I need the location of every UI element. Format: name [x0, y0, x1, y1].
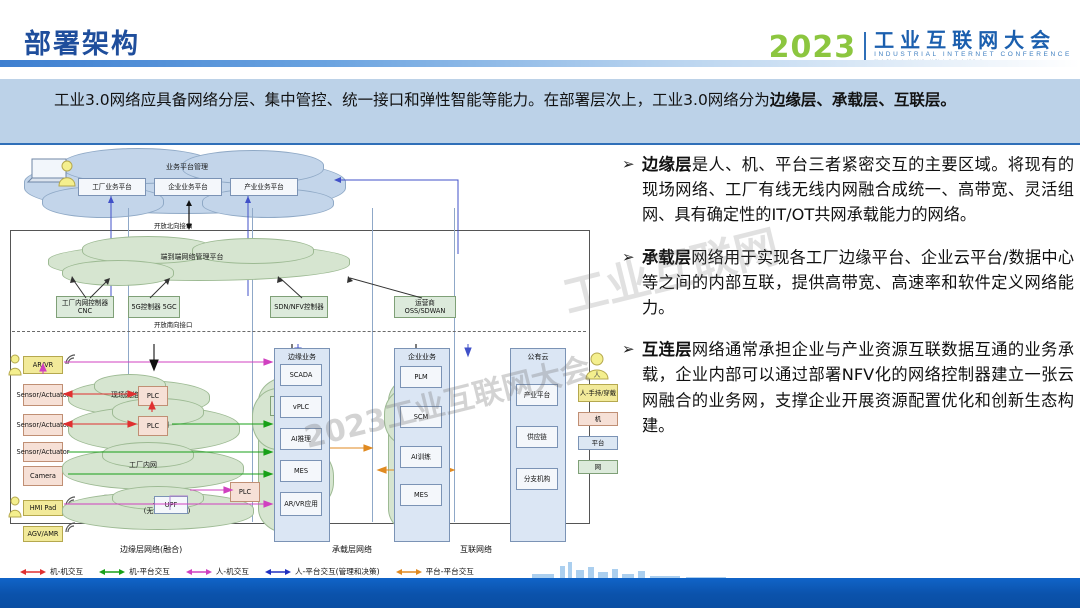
legend-machine-machine: 机-机交互	[20, 566, 83, 577]
slide: 部署架构 2023 工业互联网大会 INDUSTRIAL INTERNET CO…	[0, 0, 1080, 608]
bearing-layer-network-label: 承载层网络	[332, 544, 372, 555]
bullet-marker-icon: ➢	[622, 152, 642, 228]
intro-band: 工业3.0网络应具备网络分层、集中管控、统一接口和弹性智能等能力。在部署层次上，…	[0, 79, 1080, 145]
intro-text-a: 工业3.0网络应具备网络分层、集中管控、统一接口和弹性智能等能力。在部署层次上，…	[54, 91, 770, 109]
south-interface-line	[12, 331, 586, 332]
double-arrow-icon	[186, 568, 212, 576]
legend-human-machine: 人-机交互	[186, 566, 249, 577]
double-arrow-icon	[396, 568, 422, 576]
bullet-list: ➢ 边缘层是人、机、平台三者紧密交互的主要区域。将现有的现场网络、工厂有线无线内…	[622, 152, 1074, 455]
legend-platform-platform: 平台-平台交互	[396, 566, 474, 577]
industry-platform-box[interactable]: 产业平台	[516, 384, 558, 406]
scada-box[interactable]: SCADA	[280, 364, 322, 386]
legend-machine-platform: 机-平台交互	[99, 566, 170, 577]
public-cloud-column-title: 公有云	[511, 352, 565, 362]
intro-paragraph: 工业3.0网络应具备网络分层、集中管控、统一接口和弹性智能等能力。在部署层次上，…	[22, 86, 1058, 115]
arvr-app-box[interactable]: AR/VR应用	[280, 492, 322, 516]
person-icon: 人	[584, 352, 610, 380]
north-interface-arrow	[184, 200, 194, 230]
bullet-body-1: 网络用于实现各工厂边缘平台、企业云平台/数据中心等之间的内部互联，提供高带宽、高…	[642, 248, 1074, 317]
header-rule	[0, 60, 1080, 67]
edge-service-column-title: 边缘业务	[275, 352, 329, 362]
bullet-lead-1: 承载层	[642, 248, 691, 267]
legend-human-wearable: 人-手持/穿戴	[578, 384, 618, 402]
supply-chain-box[interactable]: 供应链	[516, 426, 558, 448]
architecture-diagram: 业务平台管理 工厂业务平台 企业业务平台 产业业务平台 开放北向接口	[2, 148, 616, 560]
bullet-marker-icon: ➢	[622, 337, 642, 438]
double-arrow-icon	[20, 568, 46, 576]
bullet-interconnect-layer: ➢ 互连层网络通常承担企业与产业资源互联数据互通的业务承载，企业内部可以通过部署…	[622, 337, 1074, 438]
legend-label: 人-平台交互(管理和决策)	[295, 566, 380, 577]
branch-office-box[interactable]: 分支机构	[516, 468, 558, 490]
scm-box[interactable]: SCM	[400, 406, 442, 428]
interconnect-network-label: 互联网络	[460, 544, 492, 555]
vplc-box[interactable]: vPLC	[280, 396, 322, 418]
legend-human-platform: 人-平台交互(管理和决策)	[265, 566, 380, 577]
intro-bold-b: 承载层、互联层。	[832, 91, 956, 109]
logo-title-cn: 工业互联网大会	[874, 30, 1072, 51]
person-icon	[58, 160, 76, 188]
legend-label: 机-平台交互	[129, 566, 170, 577]
legend-label: 机-机交互	[50, 566, 83, 577]
bullet-marker-icon: ➢	[622, 245, 642, 321]
legend-network: 网	[578, 460, 618, 474]
industry-business-platform-box[interactable]: 产业业务平台	[230, 178, 298, 196]
legend-label: 平台-平台交互	[426, 566, 474, 577]
bullet-lead-2: 互连层	[642, 340, 692, 359]
mes-edge-box[interactable]: MES	[280, 460, 322, 482]
bullet-body-0: 是人、机、平台三者紧密交互的主要区域。将现有的现场网络、工厂有线无线内网融合成统…	[642, 155, 1074, 224]
slide-header: 部署架构 2023 工业互联网大会 INDUSTRIAL INTERNET CO…	[0, 0, 1080, 72]
e2e-cloud-label: 端到端网络管理平台	[122, 252, 262, 262]
bullet-lead-0: 边缘层	[642, 155, 692, 174]
legend-machine: 机	[578, 412, 618, 426]
enterprise-service-column-title: 企业业务	[395, 352, 449, 362]
legend-platform: 平台	[578, 436, 618, 450]
intro-bold-a: 边缘层、	[770, 91, 832, 109]
edge-layer-network-label: 边缘层网络(融合)	[120, 544, 182, 555]
legend-label: 人-机交互	[216, 566, 249, 577]
south-interface-label: 开放南向接口	[154, 320, 192, 329]
svg-text:人: 人	[594, 371, 601, 379]
ai-training-box[interactable]: AI训练	[400, 446, 442, 468]
ai-inference-box[interactable]: AI推理	[280, 428, 322, 450]
logo-title-en: INDUSTRIAL INTERNET CONFERENCE	[874, 51, 1072, 59]
business-platform-cloud-title: 业务平台管理	[127, 162, 247, 172]
operator-uplink-arrow	[332, 174, 462, 254]
bullet-edge-layer: ➢ 边缘层是人、机、平台三者紧密交互的主要区域。将现有的现场网络、工厂有线无线内…	[622, 152, 1074, 228]
mes-enterprise-box[interactable]: MES	[400, 484, 442, 506]
enterprise-business-platform-box[interactable]: 企业业务平台	[154, 178, 222, 196]
plm-box[interactable]: PLM	[400, 366, 442, 388]
logo-year: 2023	[769, 33, 857, 63]
controller-link-arrows	[50, 274, 470, 300]
double-arrow-icon	[99, 568, 125, 576]
entity-legend: 人 人-手持/穿戴 机 平台 网	[578, 352, 620, 484]
slide-footer	[0, 578, 1080, 608]
factory-business-platform-box[interactable]: 工厂业务平台	[78, 178, 146, 196]
double-arrow-icon	[265, 568, 291, 576]
bullet-bearing-layer: ➢ 承载层网络用于实现各工厂边缘平台、企业云平台/数据中心等之间的内部互联，提供…	[622, 245, 1074, 321]
page-title: 部署架构	[24, 22, 140, 61]
bullet-body-2: 网络通常承担企业与产业资源互联数据互通的业务承载，企业内部可以通过部署NFV化的…	[642, 340, 1074, 435]
